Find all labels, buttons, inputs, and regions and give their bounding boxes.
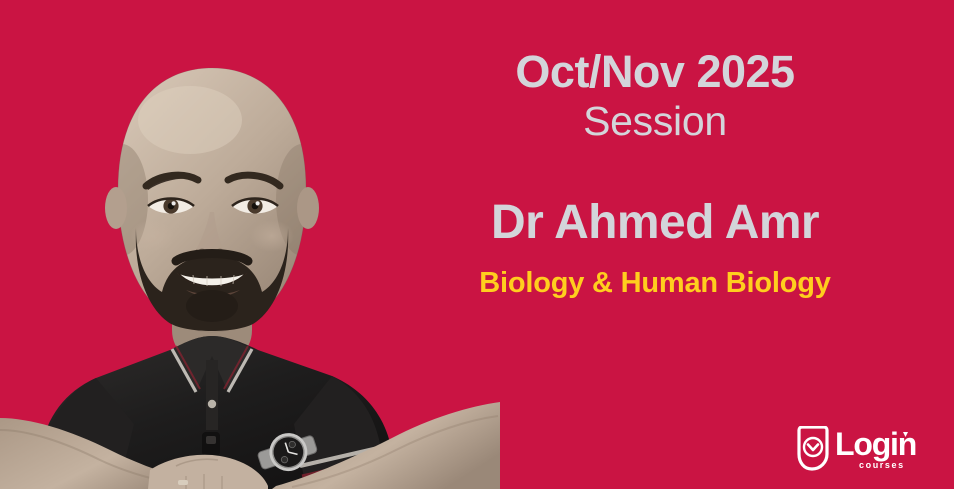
presenter-subject: Biology & Human Biology [430, 266, 880, 301]
presenter-photo [0, 0, 500, 489]
logo-wordmark-wrap: Login courses [835, 424, 938, 472]
shield-chevron-icon [796, 426, 830, 471]
presenter-block: Dr Ahmed Amr Biology & Human Biology [430, 196, 880, 301]
promo-banner: Oct/Nov 2025 Session Dr Ahmed Amr Biolog… [0, 0, 954, 489]
text-column: Oct/Nov 2025 Session Dr Ahmed Amr Biolog… [430, 0, 880, 489]
logo-wordmark: Login courses [835, 424, 938, 472]
session-date: Oct/Nov 2025 [430, 48, 880, 97]
svg-text:courses: courses [859, 460, 905, 470]
svg-text:Login: Login [835, 426, 916, 462]
presenter-photo-illustration [0, 0, 500, 489]
login-courses-logo[interactable]: Login courses [796, 423, 938, 473]
presenter-name: Dr Ahmed Amr [430, 196, 880, 250]
session-heading: Oct/Nov 2025 Session [430, 48, 880, 145]
session-word: Session [430, 97, 880, 145]
